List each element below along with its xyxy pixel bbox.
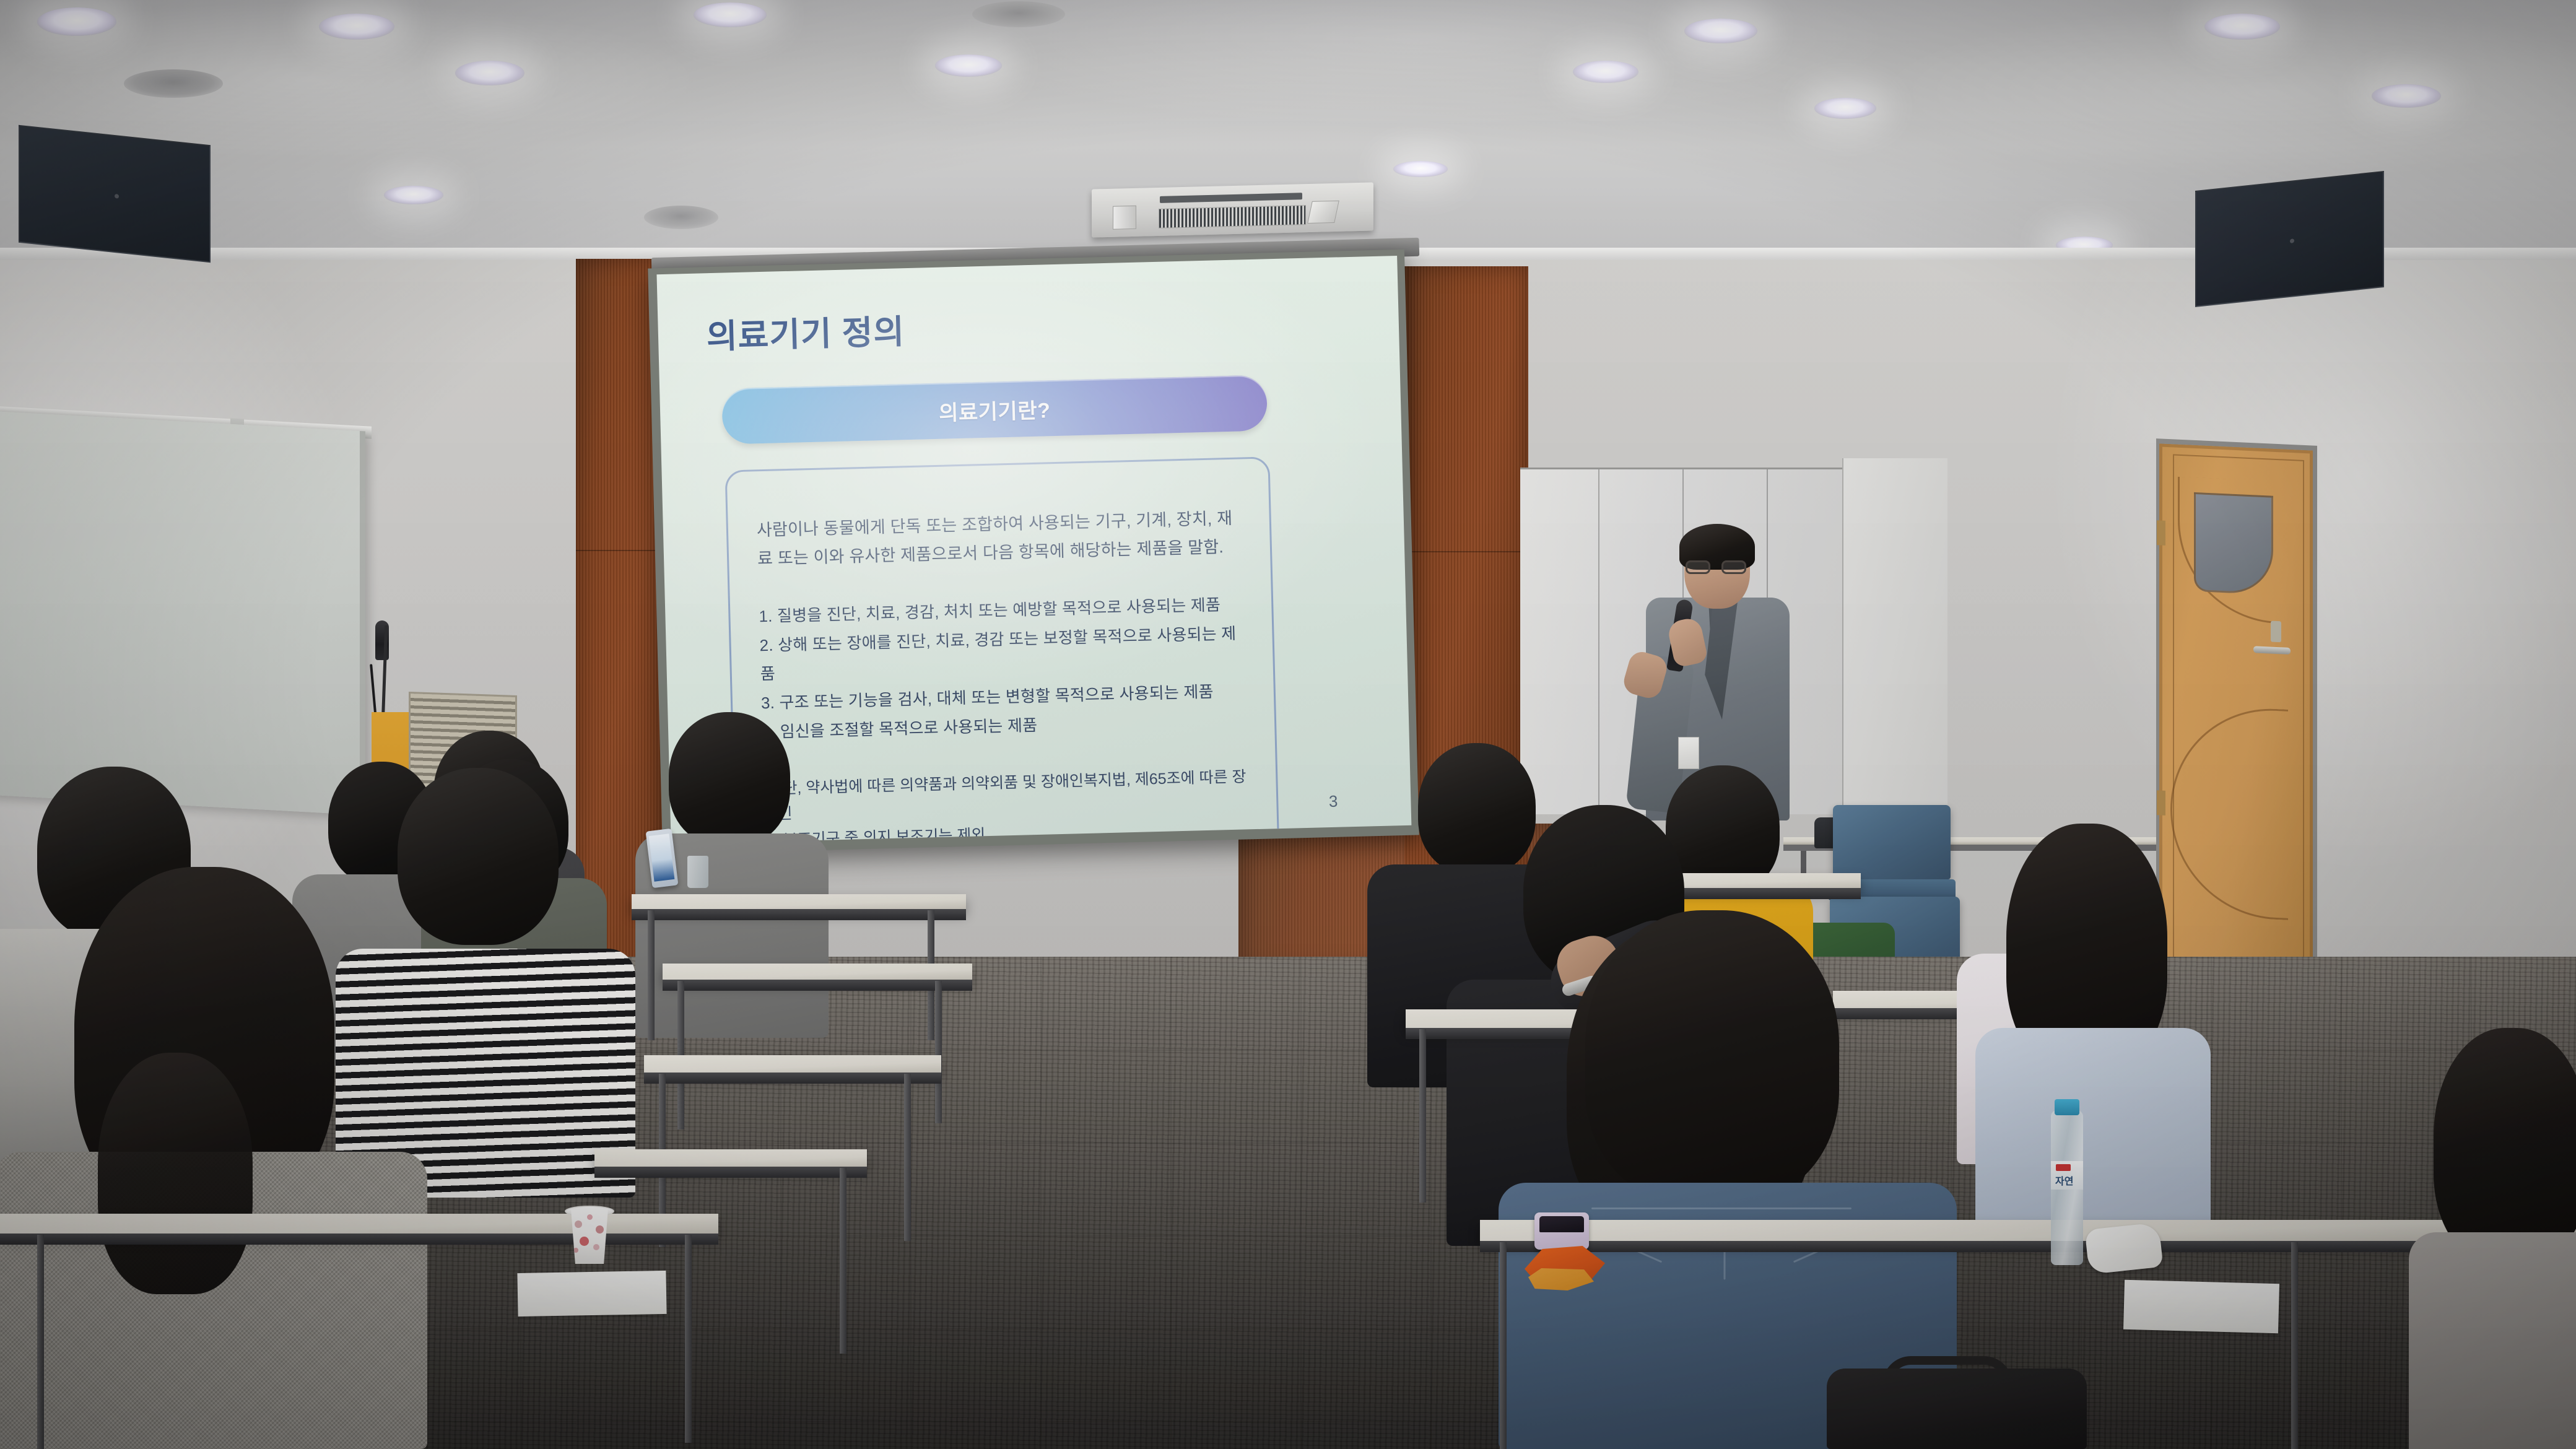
desk-leg [685,1235,692,1443]
slide-page-number: 3 [1329,792,1338,811]
whiteboard[interactable] [0,411,365,815]
slide-banner: 의료기기란? [721,375,1268,444]
paper-sheet [2123,1280,2279,1334]
desk-leg [1500,1242,1507,1449]
torso [2409,1232,2576,1449]
desk [644,1055,941,1074]
slide-numbered-list: 1. 질병을 진단, 치료, 경감, 처치 또는 예방할 목적으로 사용되는 제… [759,590,1250,747]
ceiling-recess-unlit [644,206,718,229]
desk-leg [648,910,655,1040]
phone-screen[interactable] [1539,1216,1584,1232]
presenter-name-badge [1678,737,1699,769]
ceiling-downlight [1684,19,1757,43]
seminar-room-photo: 의료기기 정의 의료기기란? 사람이나 동물에게 단독 또는 조합하여 사용되는… [0,0,2576,1449]
ac-grille [1159,205,1306,228]
ceiling-downlight [694,2,767,27]
ac-vent-left [1113,206,1136,230]
ceiling-downlight [319,14,394,40]
door-hinge [2157,520,2165,546]
desk-leg [904,1074,911,1241]
torso [1975,1028,2211,1232]
desk-leg [935,981,942,1123]
slide-footnote: ※ 단, 약사법에 따른 의약품과 의약외품 및 장애인복지법, 제65조에 따… [763,764,1253,844]
desk-leg [840,1168,846,1354]
desk-leg [37,1235,44,1449]
footnote-line-2: 보조기구 중 의지,보조기는 제외 [764,816,1253,844]
long-hair [1585,910,1839,1201]
ceiling-downlight [384,186,443,204]
door-lock[interactable] [2271,621,2281,643]
slide-lead-paragraph: 사람이나 동물에게 단독 또는 조합하여 사용되는 기구, 기계, 장치, 재료… [756,503,1245,573]
front-right-desk [1480,1220,2576,1242]
long-hair [2434,1028,2576,1263]
bottle-brand-tag [2056,1164,2071,1171]
ceiling-recess-unlit [124,69,223,98]
black-bag [1827,1368,2087,1449]
desk [663,964,972,981]
long-hair-strand [98,1053,253,1294]
desk [594,1149,867,1168]
wall-speaker-left [19,125,211,263]
ceiling-downlight [37,7,116,36]
slide-body-box: 사람이나 동물에게 단독 또는 조합하여 사용되는 기구, 기계, 장치, 재료… [725,456,1280,844]
front-left-desk [0,1214,718,1235]
chair-back-row[interactable] [1833,805,1951,879]
head [669,712,790,846]
ac-intake-slot [1160,193,1302,203]
ceiling-downlight [2204,14,2280,40]
paper-cup[interactable] [568,1209,611,1264]
ceiling-downlight [1814,98,1876,119]
ceiling-downlight [1573,61,1638,83]
bottle-label: 자연 [2051,1161,2083,1190]
footnote-line-1: ※ 단, 약사법에 따른 의약품과 의약외품 및 장애인복지법, 제65조에 따… [763,768,1247,823]
door-window-glass [2194,492,2273,595]
slide-banner-text: 의료기기란? [938,393,1050,427]
paper-sheet [517,1271,666,1316]
room-door[interactable] [2159,443,2313,988]
head [398,768,559,945]
door-hinge [2157,790,2165,816]
drinking-glass [687,856,708,888]
desk [632,894,966,910]
ac-vent-right [1307,201,1339,224]
wall-speaker-right [2195,171,2384,307]
ceiling-downlight [1393,161,1448,177]
ceiling-downlight [935,54,1002,77]
ceiling-air-conditioner [1092,182,1373,237]
crumpled-tissue [2085,1222,2164,1274]
ceiling-recess-unlit [972,1,1065,27]
glasses-icon [1686,560,1747,574]
wall-column-white [1842,458,1947,830]
slide-title: 의료기기 정의 [706,293,1361,359]
ceiling-downlight [455,61,524,85]
head [1418,743,1536,874]
bottle-label-text: 자연 [2055,1173,2073,1188]
ceiling-downlight [2372,84,2441,108]
bottle-cap[interactable] [2055,1099,2079,1115]
desk-leg [1419,1029,1426,1203]
desk-leg [2291,1242,2298,1449]
